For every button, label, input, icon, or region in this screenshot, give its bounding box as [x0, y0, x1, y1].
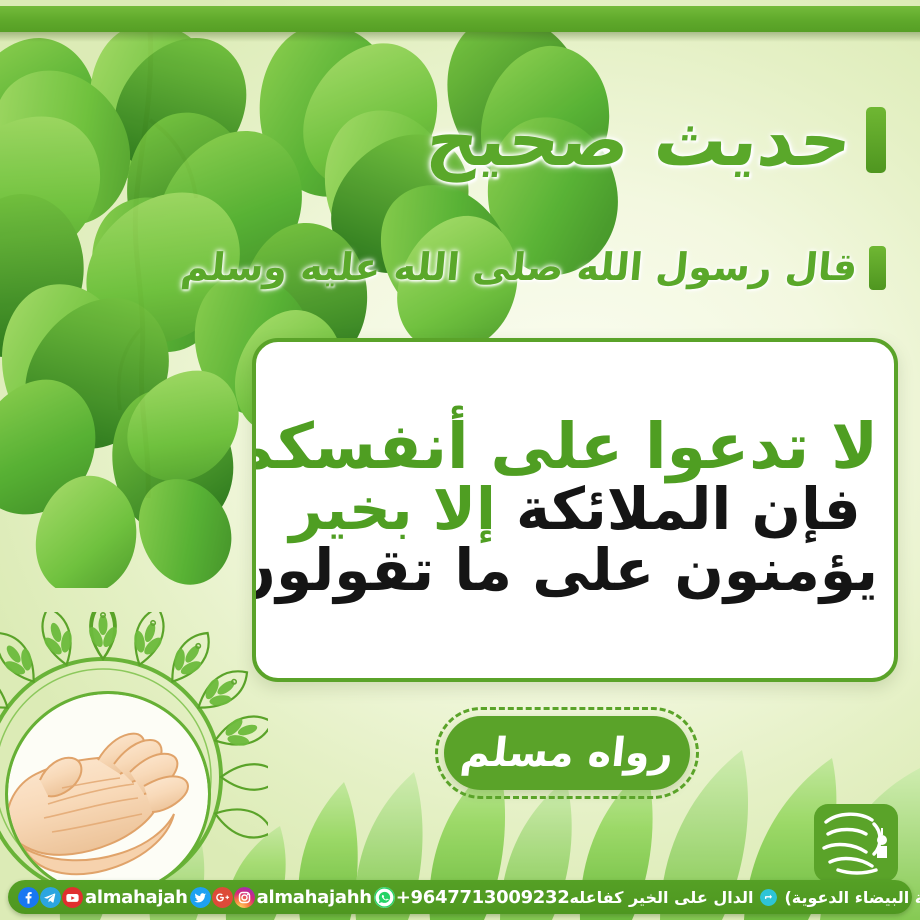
footer-handle-1[interactable]: almahajah: [84, 887, 189, 908]
hadith-line-2: فإن الملائكة إلا بخير: [272, 479, 878, 539]
footer-org-name: (المحجة البيضاء الدعوية): [784, 888, 920, 907]
hadith-line-1: لا تدعوا على أنفسكم: [272, 414, 878, 480]
hadith-line-3: يؤمنون على ما تقولون: [272, 540, 878, 600]
hadith-line-2-green: إلا بخير: [289, 475, 496, 543]
share-icon[interactable]: [760, 889, 777, 906]
subtitle-accent-bar: [869, 246, 886, 290]
footer-phone[interactable]: +9647713009232: [396, 887, 570, 908]
topbar-shadow: [0, 32, 920, 42]
footer-handle-2[interactable]: almahajahh: [256, 887, 373, 908]
page-subtitle: قال رسول الله صلى الله عليه وسلم: [179, 247, 859, 289]
hadith-line-2-black: فإن الملائكة: [516, 475, 861, 543]
footer-slogan: الدال على الخير كفاعله: [569, 888, 753, 907]
whatsapp-icon[interactable]: [374, 887, 395, 908]
praying-hands-illustration: [2, 688, 214, 900]
googleplus-icon[interactable]: [212, 887, 233, 908]
hadith-subtitle-block: قال رسول الله صلى الله عليه وسلم: [181, 246, 886, 290]
footer-contact-bar: almahajah: [8, 880, 912, 914]
facebook-icon[interactable]: [18, 887, 39, 908]
twitter-icon[interactable]: [190, 887, 211, 908]
title-accent-bar: [866, 107, 886, 173]
footer-text-group: (المحجة البيضاء الدعوية) الدال على الخير…: [569, 888, 920, 907]
top-accent-bar: [0, 6, 920, 32]
instagram-icon[interactable]: [234, 887, 255, 908]
page-title: حديث صحيح: [424, 104, 856, 176]
poster-canvas: حديث صحيح قال رسول الله صلى الله عليه وس…: [0, 0, 920, 920]
youtube-icon[interactable]: [62, 887, 83, 908]
hadith-title-block: حديث صحيح: [427, 104, 886, 176]
footer-social-group: almahajah: [18, 887, 569, 908]
telegram-icon[interactable]: [40, 887, 61, 908]
narrator-label: رواه مسلم: [458, 730, 675, 776]
hadith-text-card: لا تدعوا على أنفسكم فإن الملائكة إلا بخي…: [252, 338, 898, 682]
almahajah-logo-icon: [808, 800, 904, 886]
narrator-badge: رواه مسلم: [444, 716, 690, 790]
